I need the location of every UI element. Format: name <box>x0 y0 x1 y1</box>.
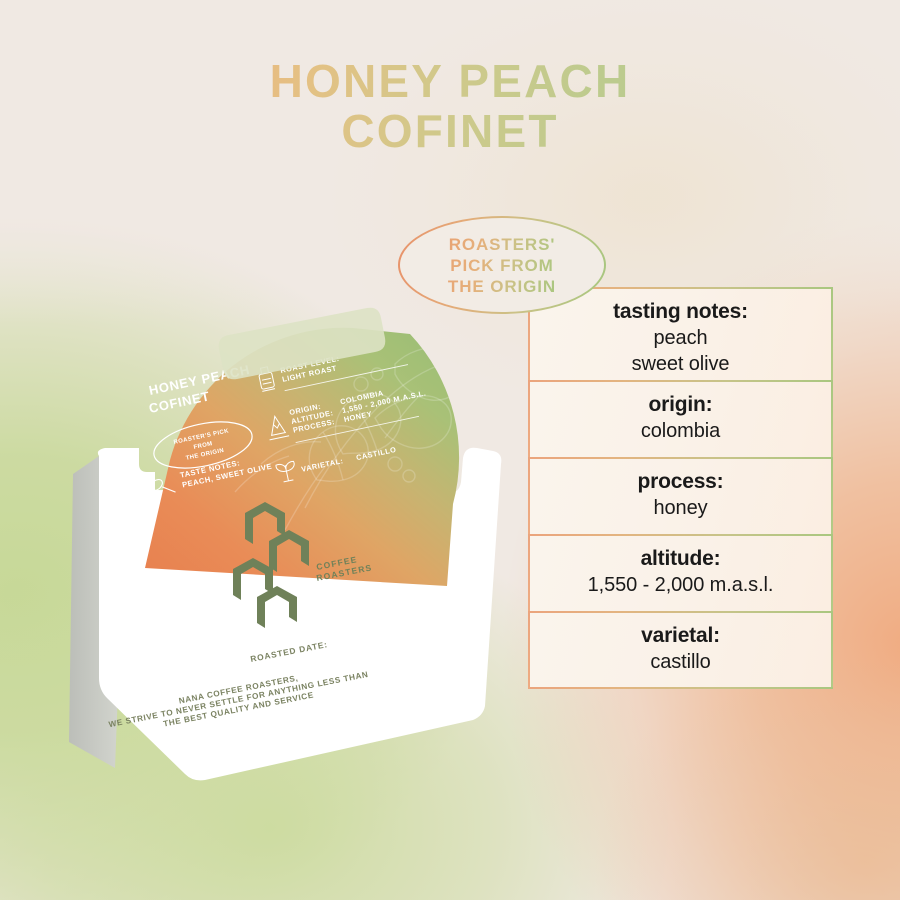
info-card-process: process: honey <box>528 457 833 534</box>
card-label: process: <box>542 469 819 495</box>
coffee-bag-illustration: HONEY PEACH COFINET ROASTER'S PICK FROM … <box>55 268 525 788</box>
card-bottom-border <box>528 687 833 689</box>
card-label: origin: <box>542 392 819 418</box>
badge-label: ROASTERS' PICK FROM THE ORIGIN <box>448 234 556 297</box>
card-right-border <box>831 380 833 457</box>
info-card-origin: origin: colombia <box>528 380 833 457</box>
card-value: castillo <box>542 649 819 675</box>
roasters-pick-badge: ROASTERS' PICK FROM THE ORIGIN <box>398 216 606 314</box>
card-value: 1,550 - 2,000 m.a.s.l. <box>542 572 819 598</box>
badge-oval-border: ROASTERS' PICK FROM THE ORIGIN <box>398 216 606 314</box>
card-right-border <box>831 287 833 380</box>
card-value: colombia <box>542 418 819 444</box>
card-label: altitude: <box>542 546 819 572</box>
page-title-line-2: COFINET <box>0 106 900 156</box>
info-card-varietal: varietal: castillo <box>528 611 833 689</box>
info-card-altitude: altitude: 1,550 - 2,000 m.a.s.l. <box>528 534 833 611</box>
card-value: peach sweet olive <box>542 325 819 377</box>
page-title: HONEY PEACHCOFINET <box>0 56 900 156</box>
card-right-border <box>831 534 833 611</box>
card-right-border <box>831 457 833 534</box>
page-title-line-1: HONEY PEACH <box>270 55 631 107</box>
badge-oval-inner: ROASTERS' PICK FROM THE ORIGIN <box>400 218 604 312</box>
card-label: varietal: <box>542 623 819 649</box>
product-info-card-list: tasting notes: peach sweet olive origin:… <box>528 287 833 689</box>
card-right-border <box>831 611 833 689</box>
card-value: honey <box>542 495 819 521</box>
